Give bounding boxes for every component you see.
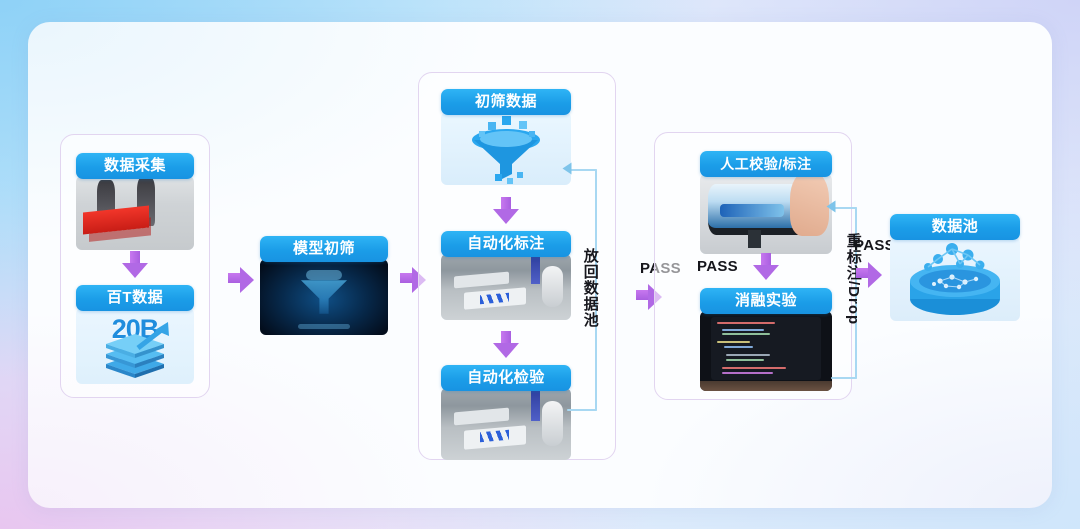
- diagram-canvas: 数据采集 百T数据 20B: [0, 0, 1080, 529]
- arrow-right-collect-to-model: [228, 265, 254, 291]
- node-auto-inspection-label: 自动化检验: [441, 365, 571, 391]
- node-human-verify-media: [700, 174, 832, 254]
- arrow-down-human-to-ablation: [753, 253, 779, 281]
- node-data-pool-label: 数据池: [890, 214, 1020, 240]
- panel-human-review: 人工校验/标注 PASS 消融实验: [654, 132, 852, 400]
- node-data-collection[interactable]: 数据采集: [76, 153, 194, 250]
- node-hundred-t-data-label: 百T数据: [76, 285, 194, 311]
- icon-funnel: [441, 112, 571, 185]
- node-data-collection-label: 数据采集: [76, 153, 194, 179]
- node-data-pool-media: [890, 237, 1020, 321]
- arrow-right-human-to-pool: [856, 260, 882, 286]
- node-auto-labeling-label: 自动化标注: [441, 231, 571, 257]
- loop-label-return-to-pool: 放回数据池: [582, 248, 598, 328]
- node-prefiltered-data-label: 初筛数据: [441, 89, 571, 115]
- node-data-collection-media: [76, 176, 194, 250]
- node-ablation-experiment-media: [700, 311, 832, 391]
- node-model-prefilter-media: [260, 259, 388, 335]
- diagram-card: 数据采集 百T数据 20B: [28, 22, 1052, 508]
- node-hundred-t-data[interactable]: 百T数据 20B: [76, 285, 194, 384]
- node-model-prefilter[interactable]: 模型初筛: [260, 236, 388, 335]
- node-prefiltered-data-media: [441, 112, 571, 185]
- node-ablation-experiment-label: 消融实验: [700, 288, 832, 314]
- node-ablation-experiment[interactable]: 消融实验: [700, 288, 832, 391]
- arrow-down-prefiltered-to-autolabel: [493, 197, 519, 225]
- node-auto-inspection-media: [441, 388, 571, 460]
- node-auto-labeling[interactable]: 自动化标注: [441, 231, 571, 320]
- node-data-pool[interactable]: 数据池: [890, 214, 1020, 321]
- panel-automation: 初筛数据: [418, 72, 616, 460]
- node-auto-labeling-media: [441, 254, 571, 320]
- node-auto-inspection[interactable]: 自动化检验: [441, 365, 571, 460]
- node-human-verify-label[interactable]: 人工校验/标注: [700, 151, 832, 254]
- panel-data-collection: 数据采集 百T数据 20B: [60, 134, 210, 398]
- node-hundred-t-data-media: 20B: [76, 308, 194, 384]
- node-model-prefilter-label: 模型初筛: [260, 236, 388, 262]
- icon-20b-stack: 20B: [76, 308, 194, 384]
- arrow-down-collect-to-data: [122, 251, 148, 279]
- node-prefiltered-data[interactable]: 初筛数据: [441, 89, 571, 185]
- arrow-down-autolabel-to-autocheck: [493, 331, 519, 359]
- pass-label-inner: PASS: [697, 258, 738, 275]
- icon-data-pool: [890, 237, 1020, 321]
- pass-label-2: PASS: [854, 237, 895, 254]
- node-human-verify-label-text: 人工校验/标注: [700, 151, 832, 177]
